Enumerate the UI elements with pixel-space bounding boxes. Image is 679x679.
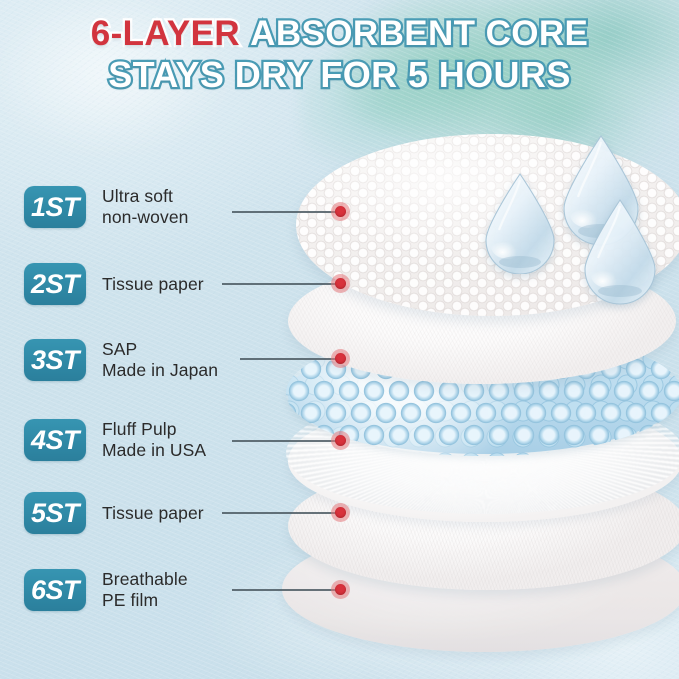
connector-line-6 <box>232 589 342 591</box>
connector-line-2 <box>222 283 342 285</box>
layer-row-1: 1ST Ultra soft non-woven <box>24 186 189 228</box>
headline-block: 6-LAYER ABSORBENT CORE STAYS DRY FOR 5 H… <box>0 14 679 94</box>
layer-label-5: Tissue paper <box>102 503 204 524</box>
connector-line-3 <box>240 358 342 360</box>
headline-line-2: STAYS DRY FOR 5 HOURS <box>0 55 679 94</box>
layer-badge-5: 5ST <box>24 492 86 534</box>
connector-line-1 <box>232 211 342 213</box>
marker-dot-6 <box>331 580 350 599</box>
layer-row-6: 6ST Breathable PE film <box>24 569 188 611</box>
layer-badge-1: 1ST <box>24 186 86 228</box>
connector-line-5 <box>222 512 342 514</box>
marker-dot-3 <box>331 349 350 368</box>
layer-label-3: SAP Made in Japan <box>102 339 218 381</box>
headline-absorbent-core: ABSORBENT CORE <box>250 14 588 53</box>
layer-label-4: Fluff Pulp Made in USA <box>102 419 206 461</box>
headline-line-1-rest <box>240 14 250 53</box>
connector-line-4 <box>232 440 342 442</box>
layer-row-5: 5ST Tissue paper <box>24 492 204 534</box>
layer-label-1: Ultra soft non-woven <box>102 186 189 228</box>
marker-dot-5 <box>331 503 350 522</box>
marker-dot-2 <box>331 274 350 293</box>
layer-label-6: Breathable PE film <box>102 569 188 611</box>
layer-badge-4: 4ST <box>24 419 86 461</box>
marker-dot-4 <box>331 431 350 450</box>
water-droplet-left-icon <box>480 172 560 274</box>
layer-badge-6: 6ST <box>24 569 86 611</box>
layer-row-3: 3ST SAP Made in Japan <box>24 339 218 381</box>
layer-label-2: Tissue paper <box>102 274 204 295</box>
layer-badge-2: 2ST <box>24 263 86 305</box>
layer-row-2: 2ST Tissue paper <box>24 263 204 305</box>
headline-line-1: 6-LAYER ABSORBENT CORE <box>0 14 679 53</box>
layer-badge-3: 3ST <box>24 339 86 381</box>
layer-row-4: 4ST Fluff Pulp Made in USA <box>24 419 206 461</box>
headline-highlight-6-layer: 6-LAYER <box>91 14 240 53</box>
marker-dot-1 <box>331 202 350 221</box>
water-droplet-right-icon <box>578 198 662 306</box>
infographic-canvas: 6-LAYER ABSORBENT CORE STAYS DRY FOR 5 H… <box>0 0 679 679</box>
